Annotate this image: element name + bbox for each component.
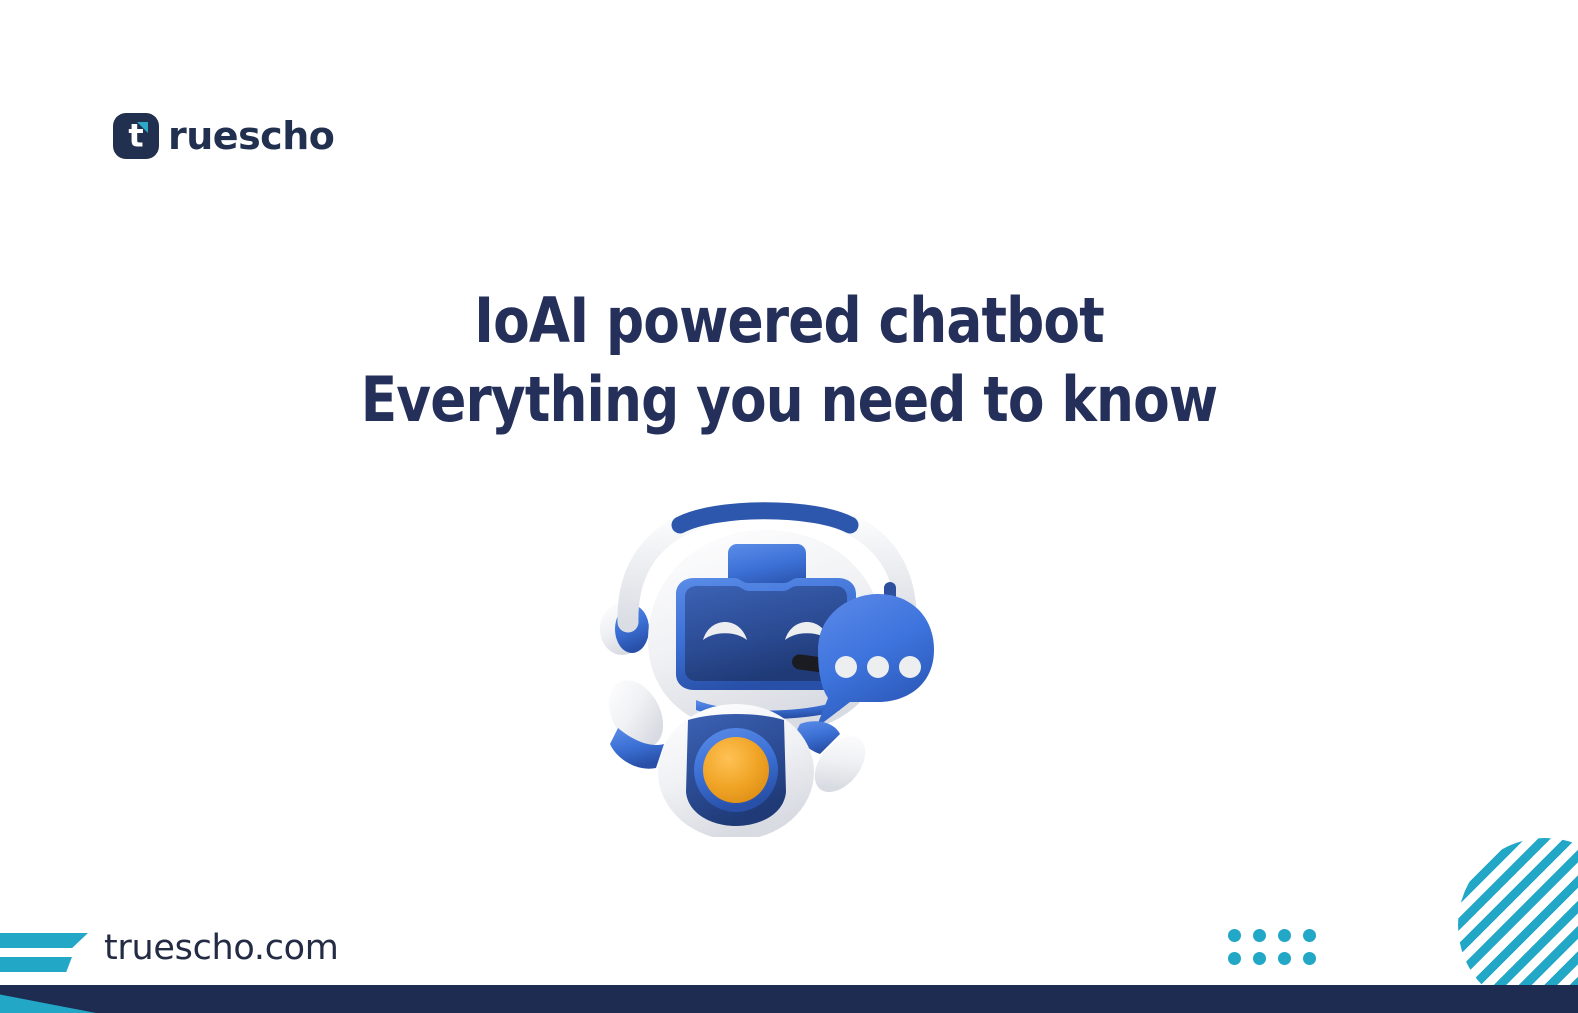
robot-chest-button bbox=[703, 737, 769, 803]
bubble-dot-1 bbox=[835, 656, 857, 678]
brand-logo[interactable]: t ruescho bbox=[113, 113, 334, 159]
slide-canvas: t ruescho IoAI powered chatbot Everythin… bbox=[0, 0, 1578, 1013]
dot bbox=[1253, 952, 1266, 965]
brand-mark-icon: t bbox=[113, 113, 159, 159]
dot bbox=[1303, 929, 1316, 942]
dot bbox=[1303, 952, 1316, 965]
footer-accent-bars bbox=[0, 933, 88, 972]
page-title: IoAI powered chatbot Everything you need… bbox=[110, 282, 1467, 439]
headset-band-top bbox=[680, 511, 850, 525]
footer-bar-bottom bbox=[0, 957, 72, 972]
dot bbox=[1253, 929, 1266, 942]
bubble-dot-3 bbox=[899, 656, 921, 678]
dot bbox=[1278, 952, 1291, 965]
dot bbox=[1228, 952, 1241, 965]
page-title-line-2: Everything you need to know bbox=[110, 361, 1467, 440]
dot-grid-decoration bbox=[1228, 929, 1316, 965]
bottom-bar-accent-triangle bbox=[0, 985, 96, 1013]
dot bbox=[1228, 929, 1241, 942]
robot-icon bbox=[588, 492, 948, 837]
footer-url[interactable]: truescho.com bbox=[104, 928, 339, 968]
chatbot-robot-illustration bbox=[588, 492, 948, 837]
page-title-line-1: IoAI powered chatbot bbox=[110, 282, 1467, 361]
footer-bar-top bbox=[0, 933, 88, 948]
dot bbox=[1278, 929, 1291, 942]
bubble-dot-2 bbox=[867, 656, 889, 678]
bottom-bar bbox=[0, 985, 1578, 1013]
brand-wordmark: ruescho bbox=[168, 117, 334, 155]
brand-mark-letter: t bbox=[113, 119, 159, 151]
